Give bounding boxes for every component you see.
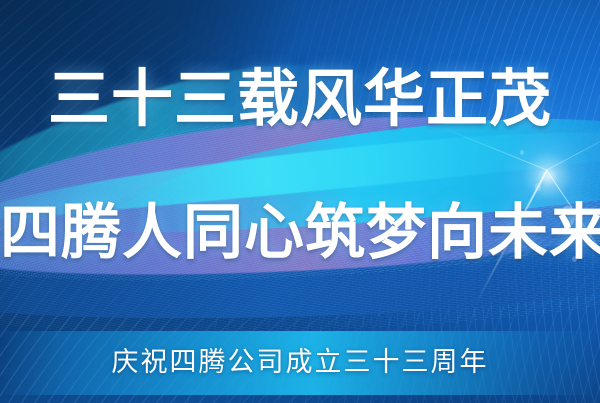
anniversary-poster: 三十三载风华正茂 四腾人同心筑梦向未来 庆祝四腾公司成立三十三周年 bbox=[0, 0, 600, 403]
vignette-overlay bbox=[0, 0, 600, 403]
